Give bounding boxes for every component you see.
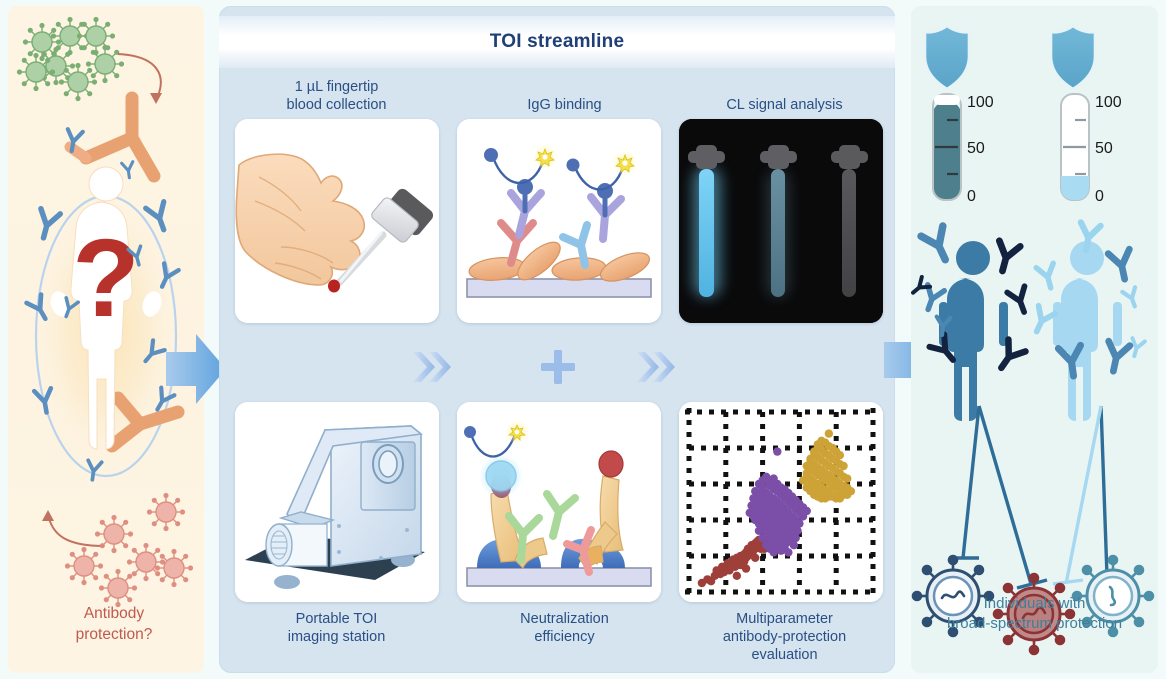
- label-cl-signal-l1: CL signal analysis: [677, 96, 892, 114]
- label-multiparameter-l3: evaluation: [677, 646, 892, 664]
- card-igg-binding[interactable]: [457, 119, 661, 323]
- neutralization-receptor-binding-icon: [457, 402, 661, 602]
- arrow-infection-out: [48, 514, 104, 546]
- substrate-plate: [467, 279, 651, 297]
- left-panel-caption: Antibody protection?: [16, 604, 212, 646]
- gauge-left-tick-50: 50: [967, 140, 985, 157]
- person-low-protection: [1053, 241, 1122, 421]
- right-panel-protection-outcome: 100 50 0 100 50 0: [911, 6, 1158, 673]
- neutralizing-sphere: [486, 461, 516, 491]
- gauge-high-protection: [933, 94, 961, 200]
- portable-imaging-station-icon: [235, 402, 439, 602]
- gauge-right-tick-50: 50: [1095, 140, 1113, 157]
- plus-sign-icon: [535, 344, 581, 390]
- label-multiparameter-l1: Multiparameter: [677, 610, 892, 628]
- left-caption-line1: Antibody: [16, 604, 212, 625]
- gauge-low-protection: [1061, 94, 1089, 200]
- gauge-right-tick-100: 100: [1095, 94, 1122, 111]
- virus-cluster-green: [18, 18, 124, 101]
- inhibition-lines: [949, 406, 1123, 588]
- card-neutralization-efficiency[interactable]: [457, 402, 661, 602]
- label-neutralization: Neutralization efficiency: [457, 610, 672, 646]
- arrow-infection-in-head: [150, 93, 162, 104]
- label-igg-binding: IgG binding: [457, 96, 672, 114]
- lens-inner: [379, 451, 397, 477]
- inhibition-line-1: [949, 406, 979, 558]
- sample-cylinder: [266, 524, 327, 566]
- person-high-protection: [939, 241, 1008, 421]
- label-imaging-station-l1: Portable TOI: [229, 610, 444, 628]
- antibody-large-top: [70, 98, 154, 176]
- chevron-right-double-icon-1: [409, 344, 455, 390]
- figure-canvas: ?: [0, 0, 1166, 679]
- substrate-plate: [467, 568, 651, 586]
- igg-antibody-binding-assay-icon: [457, 119, 661, 323]
- label-neutralization-l1: Neutralization: [457, 610, 672, 628]
- antibody-cloud-right-panel: [911, 222, 1145, 377]
- chevron-right-double-icon-2: [633, 344, 679, 390]
- right-caption-line1: Individuals with: [911, 594, 1158, 614]
- label-neutralization-l2: efficiency: [457, 628, 672, 646]
- inhibition-line-4: [1053, 406, 1101, 584]
- left-caption-line2: protection?: [16, 625, 212, 646]
- chemiluminescence-tubes-icon: [679, 119, 883, 323]
- foot-1: [274, 575, 300, 589]
- label-blood-collection-l1: 1 µL fingertip: [229, 78, 444, 96]
- shield-icon-left: [925, 26, 969, 89]
- label-imaging-station-l2: imaging station: [229, 628, 444, 646]
- shield-icon-right: [1051, 26, 1095, 89]
- label-blood-collection-l2: blood collection: [229, 96, 444, 114]
- label-multiparameter-l2: antibody-protection: [677, 628, 892, 646]
- label-cl-signal: CL signal analysis: [677, 96, 892, 114]
- gauge-left-tick-100: 100: [967, 94, 994, 111]
- gauge-left-tick-0: 0: [967, 188, 976, 205]
- arrow-infection-out-head: [42, 510, 54, 521]
- right-panel-illustration: 100 50 0 100 50 0: [911, 6, 1158, 673]
- multiparameter-scatter-plot-icon: [679, 402, 883, 602]
- mid-panel-title: TOI streamline: [490, 31, 624, 53]
- card-blood-collection[interactable]: [235, 119, 439, 323]
- inhibition-line-2: [979, 406, 1047, 588]
- right-caption-line2: broad-spectrum protection: [911, 614, 1158, 634]
- card-imaging-station[interactable]: [235, 402, 439, 602]
- gauge-right-tick-0: 0: [1095, 188, 1104, 205]
- question-mark-icon: ?: [72, 217, 139, 340]
- right-panel-caption: Individuals with broad-spectrum protecti…: [911, 594, 1158, 635]
- label-imaging-station: Portable TOI imaging station: [229, 610, 444, 646]
- mid-panel-header: TOI streamline: [219, 16, 895, 68]
- mid-panel-toi-streamline: TOI streamline 1 µL fingertip blood coll…: [219, 6, 895, 673]
- fingertip-blood-drop-pipette-icon: [235, 119, 439, 323]
- card-multiparameter-scatter[interactable]: [679, 402, 883, 602]
- virus-cluster-red: [66, 494, 193, 607]
- label-igg-binding-l1: IgG binding: [457, 96, 672, 114]
- label-blood-collection: 1 µL fingertip blood collection: [229, 78, 444, 114]
- card-cl-signal-analysis[interactable]: [679, 119, 883, 323]
- blood-drop: [328, 280, 340, 293]
- label-multiparameter: Multiparameter antibody-protection evalu…: [677, 610, 892, 664]
